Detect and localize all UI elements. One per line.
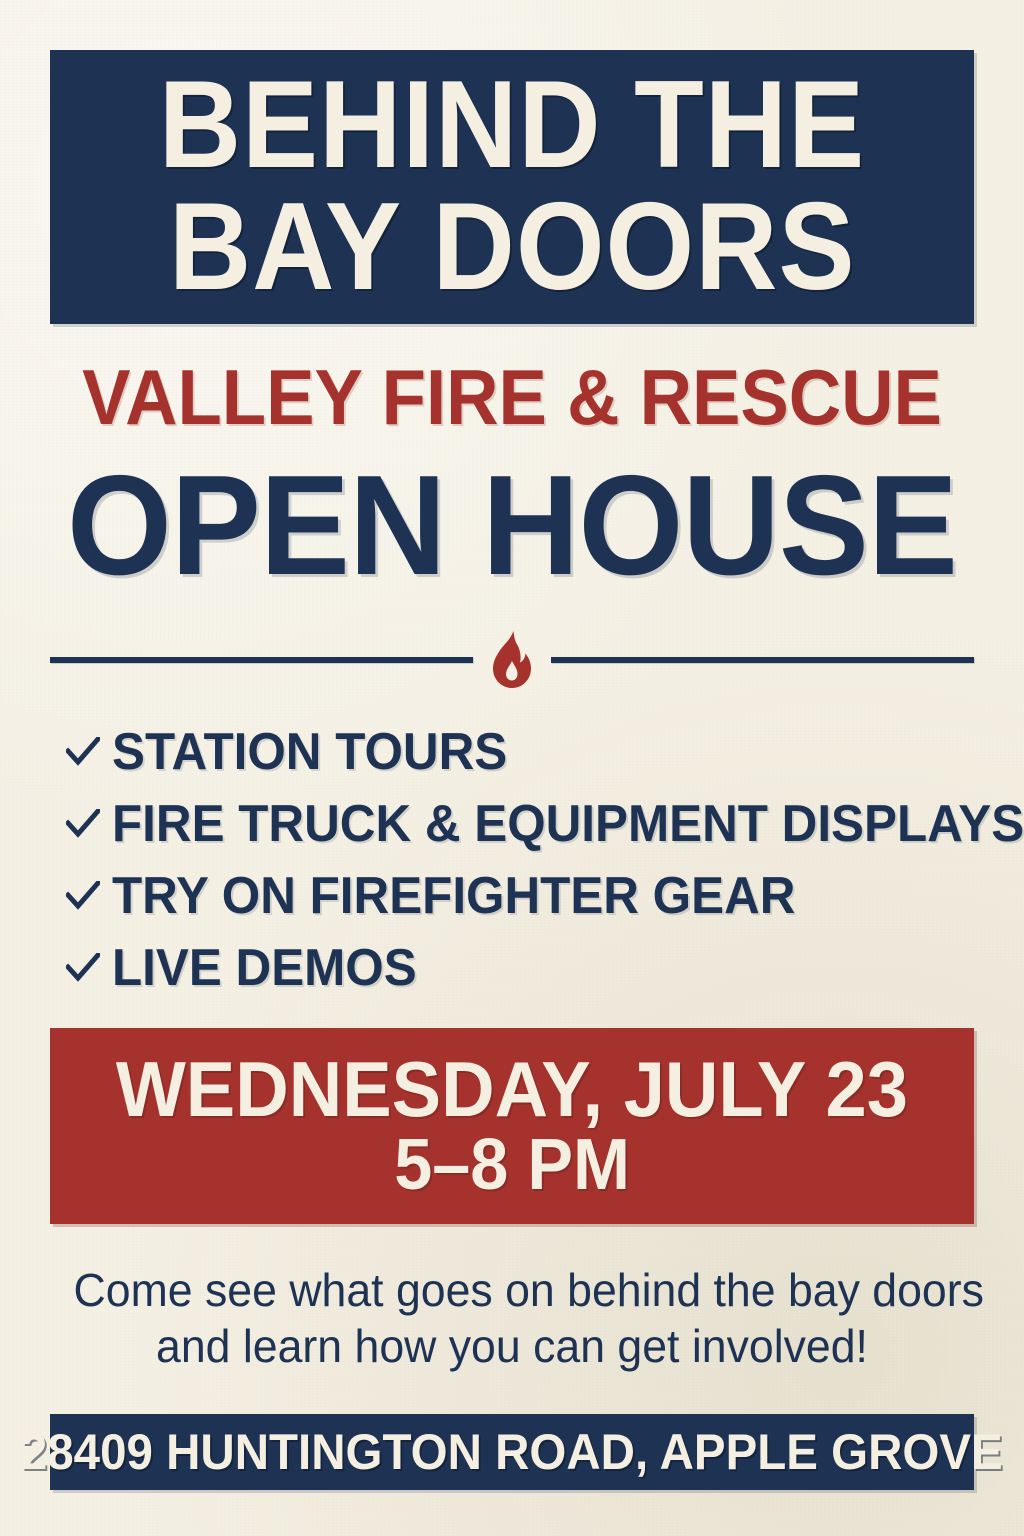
list-item: LIVE DEMOS — [66, 934, 966, 1002]
list-item-label: TRY ON FIREFIGHTER GEAR — [112, 870, 795, 922]
divider-rule-left — [50, 657, 473, 663]
header-title-line-2: BAY DOORS — [169, 187, 856, 309]
check-icon — [66, 953, 112, 983]
flame-icon — [473, 631, 551, 689]
body-copy-line-2: and learn how you can get involved! — [74, 1318, 951, 1374]
address-text: 28409 HUNTINGTON ROAD, APPLE GROVE — [21, 1427, 1003, 1477]
divider-rule-right — [551, 657, 974, 663]
date-banner: WEDNESDAY, JULY 23 5–8 PM — [50, 1028, 974, 1224]
poster-content: BEHIND THE BAY DOORS VALLEY FIRE & RESCU… — [0, 0, 1024, 1536]
header-banner: BEHIND THE BAY DOORS — [50, 50, 974, 324]
address-banner: 28409 HUNTINGTON ROAD, APPLE GROVE — [50, 1414, 974, 1490]
list-item: TRY ON FIREFIGHTER GEAR — [66, 862, 966, 930]
event-date: WEDNESDAY, JULY 23 — [116, 1050, 908, 1130]
body-copy: Come see what goes on behind the bay doo… — [60, 1262, 964, 1374]
list-item: STATION TOURS — [66, 718, 966, 786]
organization-name: VALLEY FIRE & RESCUE — [36, 358, 988, 436]
check-icon — [66, 737, 112, 767]
event-time: 5–8 PM — [394, 1129, 630, 1202]
event-title: OPEN HOUSE — [26, 455, 999, 597]
list-item-label: STATION TOURS — [112, 726, 507, 778]
activities-checklist: STATION TOURS FIRE TRUCK & EQUIPMENT DIS… — [66, 718, 966, 1006]
list-item-label: LIVE DEMOS — [112, 942, 417, 994]
header-title-line-1: BEHIND THE — [159, 65, 865, 187]
body-copy-line-1: Come see what goes on behind the bay doo… — [74, 1262, 951, 1318]
section-divider — [50, 632, 974, 688]
check-icon — [66, 881, 112, 911]
check-icon — [66, 809, 112, 839]
list-item: FIRE TRUCK & EQUIPMENT DISPLAYS — [66, 790, 966, 858]
list-item-label: FIRE TRUCK & EQUIPMENT DISPLAYS — [112, 798, 1024, 850]
